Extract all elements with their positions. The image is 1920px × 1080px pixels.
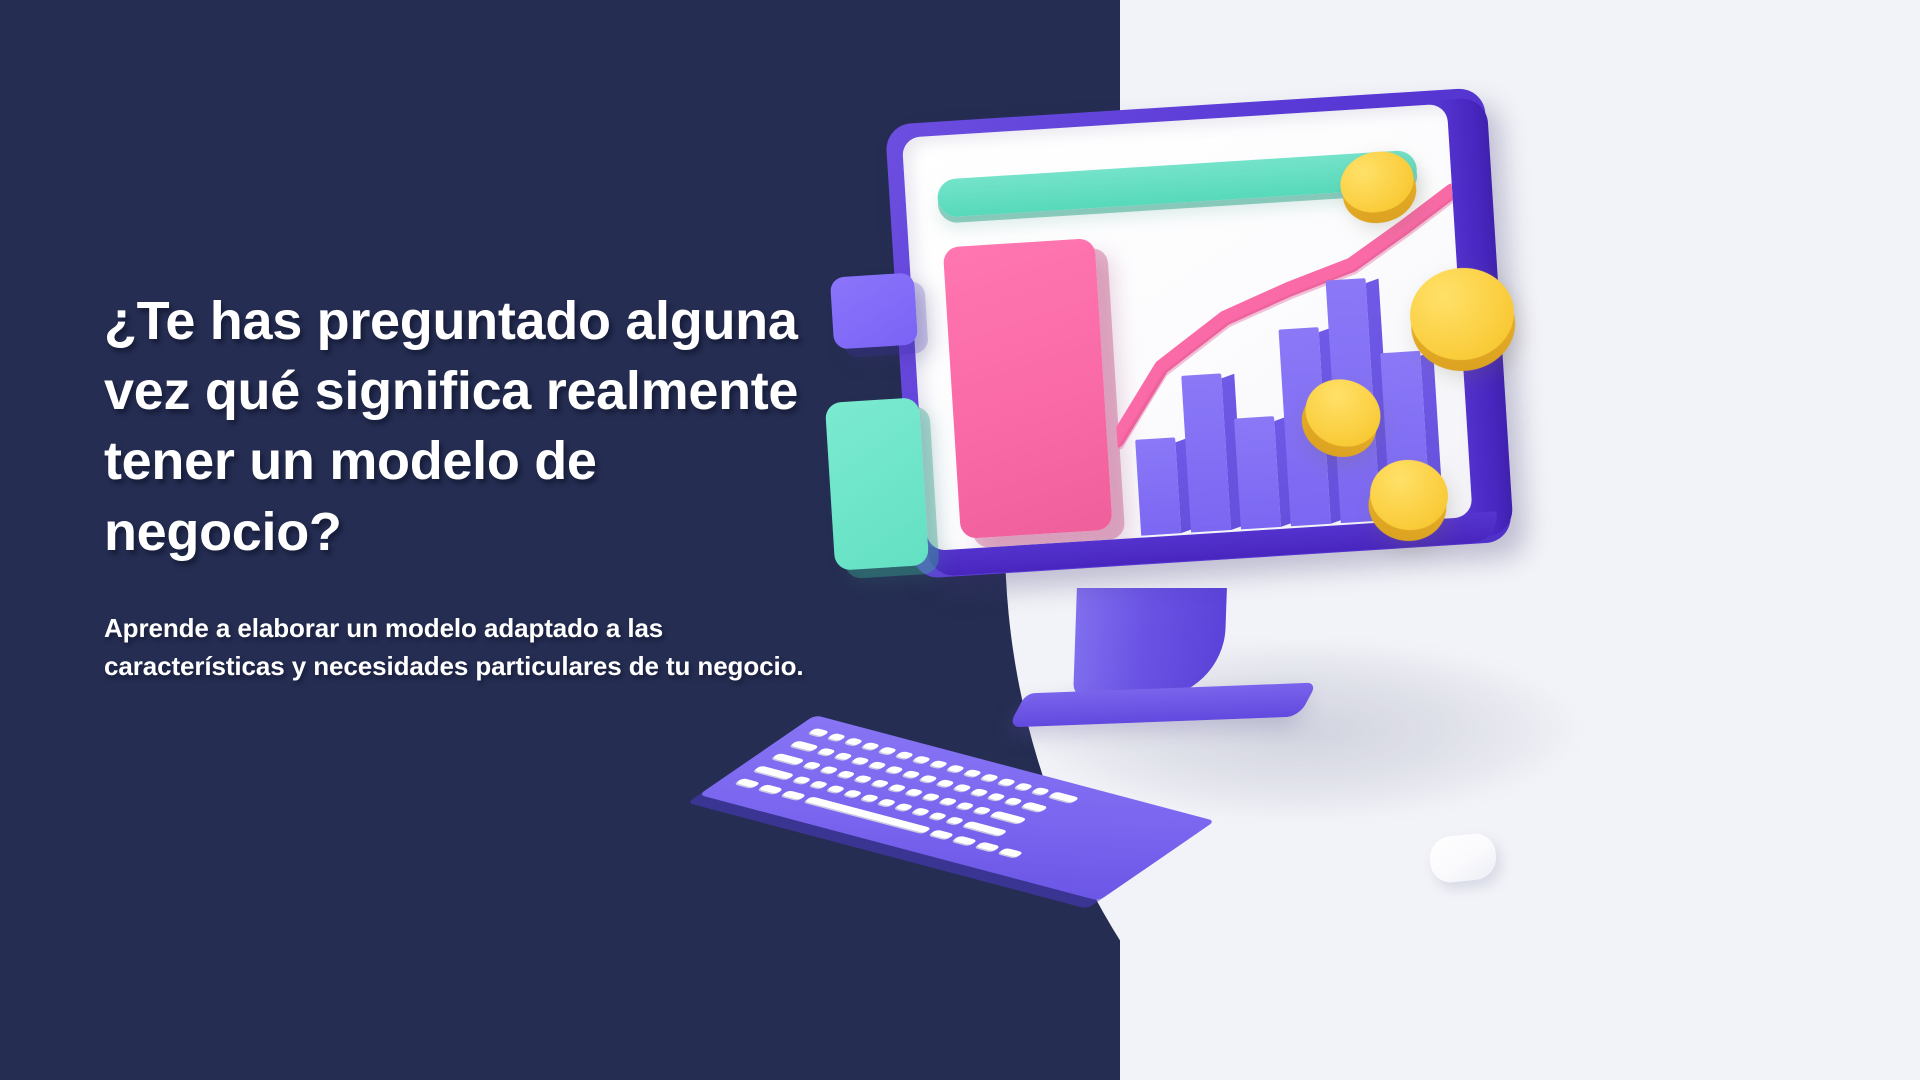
keyboard: [815, 715, 1215, 855]
keyboard-key: [902, 770, 921, 778]
keyboard-key: [803, 761, 822, 769]
keyboard-key: [946, 764, 965, 772]
keyboard-key: [1048, 791, 1079, 802]
keyboard-key: [911, 807, 930, 815]
keyboard-key: [820, 766, 839, 774]
keyboard-key: [929, 829, 954, 839]
keyboard-key: [781, 790, 806, 800]
keyboard-key: [758, 784, 783, 794]
page-subtitle: Aprende a elaborar un modelo adaptado a …: [104, 609, 844, 686]
keyboard-key: [837, 770, 856, 778]
keyboard-key: [854, 775, 873, 783]
keyboard-key: [952, 835, 977, 845]
keyboard-key: [953, 784, 972, 792]
keyboard-key: [792, 776, 811, 784]
keyboard-key: [956, 802, 975, 810]
coin-2: [1405, 263, 1518, 365]
keyboard-key: [975, 842, 1000, 852]
keyboard-key: [997, 778, 1016, 786]
bar-3: [1234, 416, 1281, 530]
keyboard-key: [888, 784, 907, 792]
keyboard-key: [844, 737, 863, 745]
keyboard-key: [1021, 802, 1048, 812]
keyboard-key: [808, 728, 829, 737]
keyboard-key: [1031, 787, 1050, 795]
keyboard-key: [834, 752, 853, 760]
keyboard-key: [878, 746, 897, 754]
keyboard-key: [919, 775, 938, 783]
keyboard-key: [939, 797, 958, 805]
keyboard-key: [929, 760, 948, 768]
keyboard-key: [735, 778, 760, 788]
keyboard-key: [885, 766, 904, 774]
keyboard-key: [851, 757, 870, 765]
keyboard-key: [809, 780, 828, 788]
keyboard-key: [895, 751, 914, 759]
keyboard-key: [928, 812, 947, 820]
keyboard-key: [753, 765, 794, 779]
keyboard-key: [871, 779, 890, 787]
copy-block: ¿Te has preguntado alguna vez qué signif…: [104, 286, 844, 686]
keyboard-key: [827, 733, 846, 741]
page-title: ¿Te has preguntado alguna vez qué signif…: [104, 286, 844, 567]
keyboard-key: [912, 755, 931, 763]
keyboard-key: [790, 740, 819, 751]
keyboard-key: [922, 793, 941, 801]
poster-canvas: ¿Te has preguntado alguna vez qué signif…: [0, 0, 1920, 1080]
mouse: [1428, 832, 1498, 885]
keyboard-key: [804, 796, 931, 833]
keyboard-key: [860, 794, 879, 802]
screen-side-panel: [943, 238, 1113, 539]
keyboard-key: [973, 806, 992, 814]
keyboard-key: [817, 748, 836, 756]
keyboard-key: [962, 821, 1007, 836]
keyboard-key: [843, 789, 862, 797]
bar-2: [1181, 374, 1231, 533]
keyboard-key: [826, 785, 845, 793]
keyboard-key: [980, 773, 999, 781]
floating-card-teal: [825, 397, 929, 571]
keyboard-key: [987, 793, 1006, 801]
bar-1: [1135, 437, 1181, 535]
keyboard-key: [877, 798, 896, 806]
floating-card-purple: [830, 272, 918, 349]
keyboard-key: [1004, 797, 1023, 805]
keyboard-key: [861, 742, 880, 750]
hero-illustration: [960, 60, 1920, 1060]
keyboard-key: [998, 848, 1023, 858]
keyboard-key: [990, 811, 1027, 824]
keyboard-key: [905, 788, 924, 796]
keyboard-key: [772, 753, 805, 765]
keyboard-key: [1014, 782, 1033, 790]
keyboard-key: [936, 779, 955, 787]
keyboard-key: [894, 803, 913, 811]
keyboard-key: [868, 761, 887, 769]
keyboard-key: [970, 788, 989, 796]
coin-4: [1366, 455, 1453, 535]
keyboard-key: [963, 769, 982, 777]
keyboard-key: [945, 816, 964, 824]
